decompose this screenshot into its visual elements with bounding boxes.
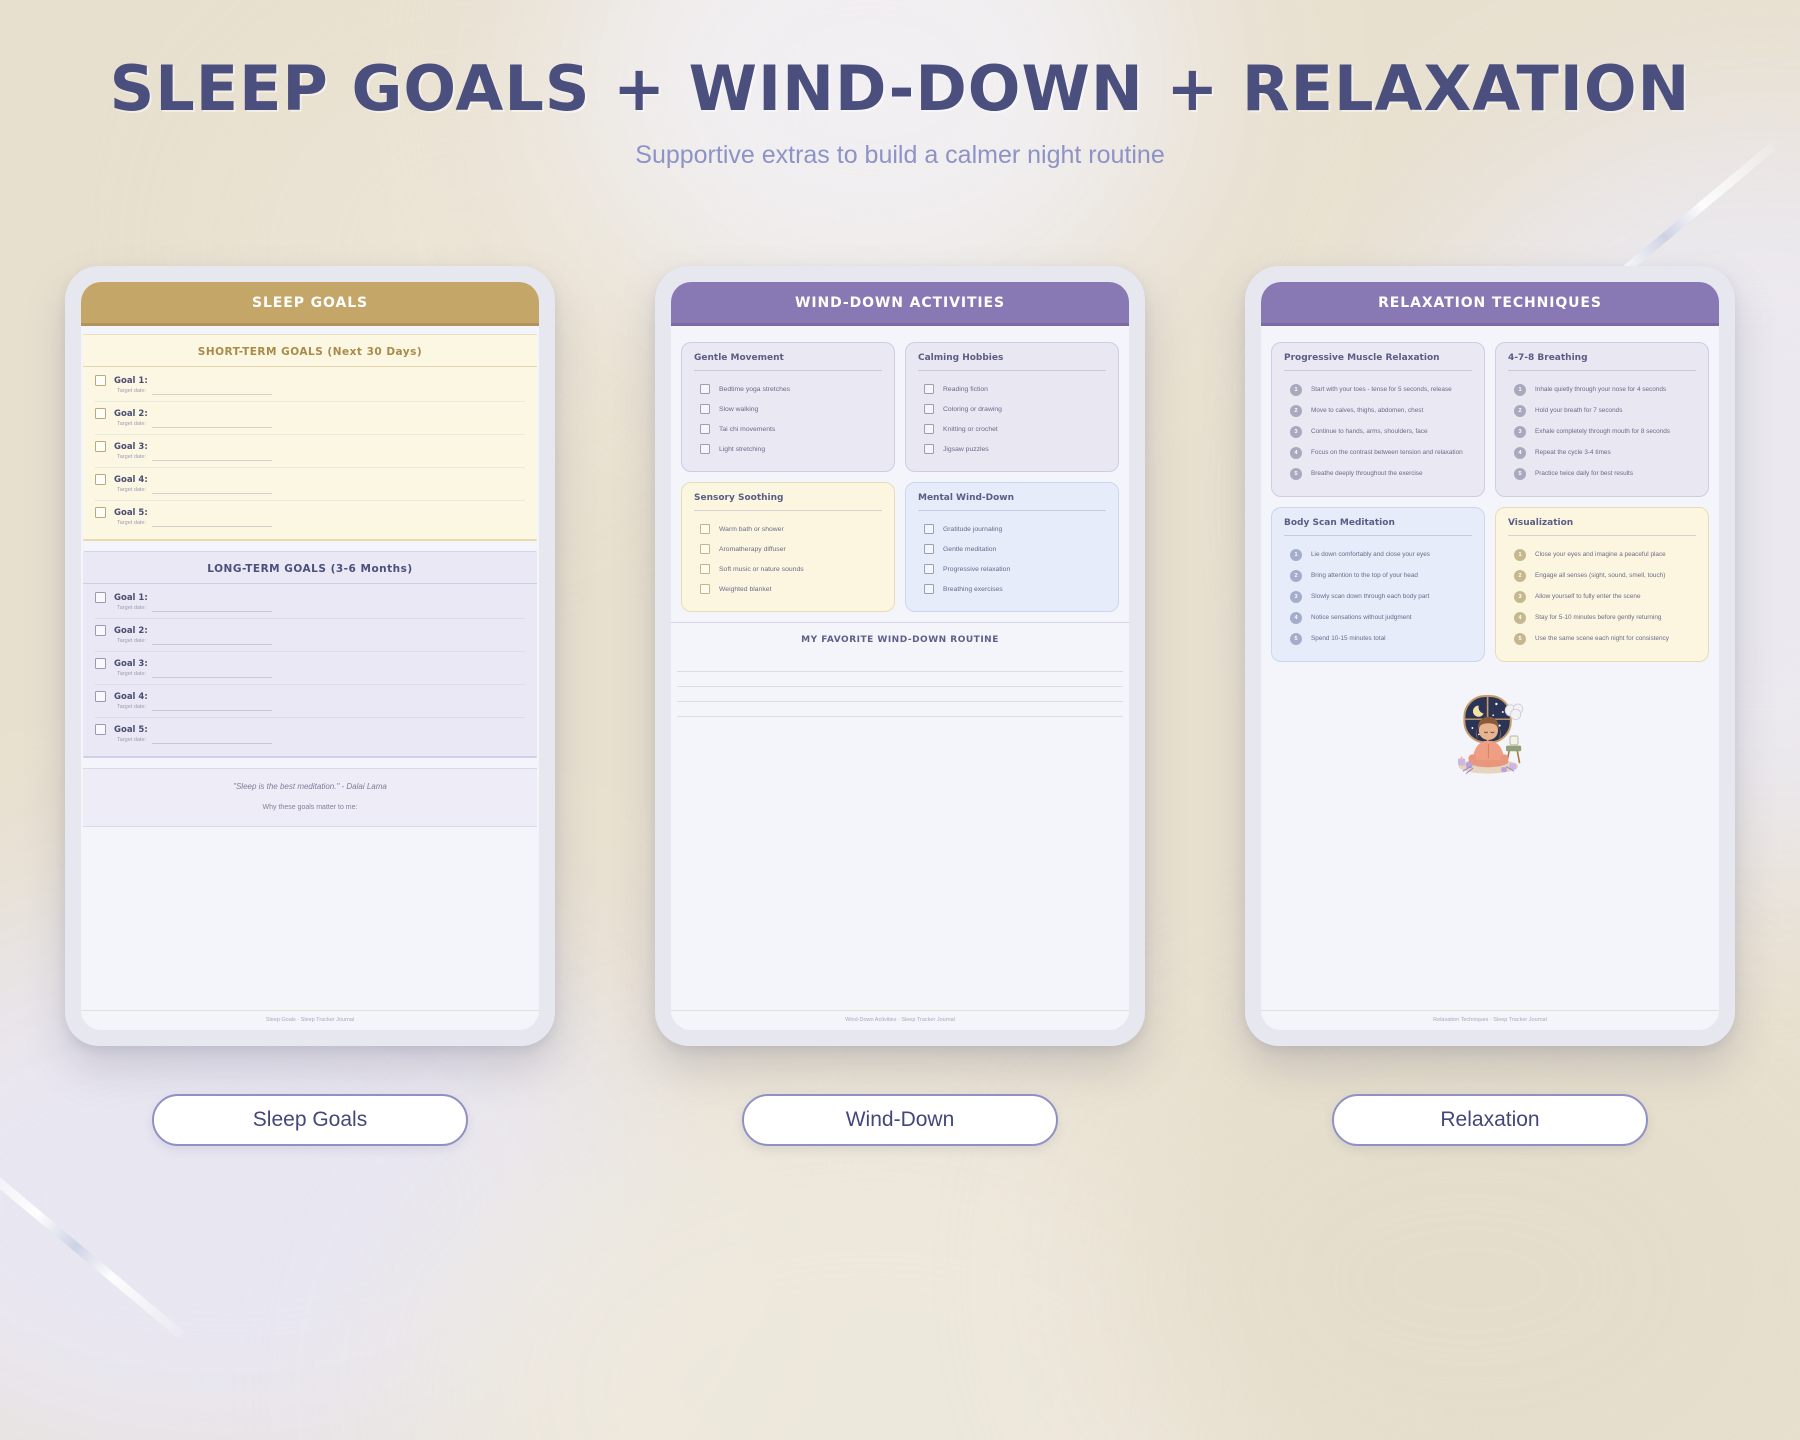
goal-checkbox[interactable] — [95, 592, 106, 603]
step-text: Use the same scene each night for consis… — [1535, 635, 1669, 642]
goal-checkbox[interactable] — [95, 658, 106, 669]
step-text: Spend 10-15 minutes total — [1311, 635, 1386, 642]
activity-card-title: Mental Wind-Down — [918, 493, 1106, 511]
activity-label: Bedtime yoga stretches — [719, 386, 790, 393]
activity-label: Slow walking — [719, 406, 758, 413]
goal-label: Goal 5: — [114, 725, 148, 735]
goal-label: Goal 4: — [114, 475, 148, 485]
activity-item[interactable]: Aromatherapy diffuser — [694, 539, 882, 559]
target-date-field[interactable] — [152, 710, 272, 711]
step-number-badge: 3 — [1290, 591, 1302, 603]
goal-label: Goal 2: — [114, 409, 148, 419]
goal-checkbox[interactable] — [95, 408, 106, 419]
technique-card-visualization: Visualization 1Close your eyes and imagi… — [1495, 507, 1709, 662]
activity-item[interactable]: Coloring or drawing — [918, 399, 1106, 419]
target-date-label: Target date: — [117, 605, 146, 612]
technique-card-title: Visualization — [1508, 518, 1696, 536]
step-text: Notice sensations without judgment — [1311, 614, 1412, 621]
goal-section-short-term: SHORT-TERM GOALS (Next 30 Days) Goal 1: … — [83, 334, 537, 541]
goal-write-line[interactable] — [156, 413, 525, 414]
technique-step: 5Spend 10-15 minutes total — [1284, 628, 1472, 649]
technique-step: 5Breathe deeply throughout the exercise — [1284, 463, 1472, 484]
activity-card-title: Sensory Soothing — [694, 493, 882, 511]
step-text: Bring attention to the top of your head — [1311, 572, 1418, 579]
target-date-field[interactable] — [152, 677, 272, 678]
goal-section-title: LONG-TERM GOALS (3-6 Months) — [83, 552, 537, 584]
technique-card-body-scan-meditation: Body Scan Meditation 1Lie down comfortab… — [1271, 507, 1485, 662]
step-number-badge: 5 — [1290, 468, 1302, 480]
goal-divider — [95, 401, 525, 402]
activity-item[interactable]: Gratitude journaling — [918, 519, 1106, 539]
activity-checkbox[interactable] — [700, 404, 710, 414]
activity-item[interactable]: Breathing exercises — [918, 579, 1106, 599]
step-text: Exhale completely through mouth for 8 se… — [1535, 428, 1670, 435]
step-number-badge: 4 — [1514, 612, 1526, 624]
technique-card-title: 4-7-8 Breathing — [1508, 353, 1696, 371]
goal-checkbox[interactable] — [95, 441, 106, 452]
activity-item[interactable]: Progressive relaxation — [918, 559, 1106, 579]
goal-checkbox[interactable] — [95, 625, 106, 636]
target-date-field[interactable] — [152, 493, 272, 494]
goal-label: Goal 5: — [114, 508, 148, 518]
step-number-badge: 3 — [1514, 591, 1526, 603]
step-text: Engage all senses (sight, sound, smell, … — [1535, 572, 1665, 579]
activity-item[interactable]: Slow walking — [694, 399, 882, 419]
technique-step: 3Continue to hands, arms, shoulders, fac… — [1284, 421, 1472, 442]
technique-step: 3Exhale completely through mouth for 8 s… — [1508, 421, 1696, 442]
activity-checkbox[interactable] — [924, 584, 934, 594]
step-text: Slowly scan down through each body part — [1311, 593, 1429, 600]
technique-step: 2Hold your breath for 7 seconds — [1508, 400, 1696, 421]
technique-step: 1Lie down comfortably and close your eye… — [1284, 544, 1472, 565]
step-number-badge: 4 — [1514, 447, 1526, 459]
quote-reflection-prompt[interactable]: Why these goals matter to me: — [83, 804, 537, 811]
activity-item[interactable]: Gentle meditation — [918, 539, 1106, 559]
goal-checkbox[interactable] — [95, 724, 106, 735]
activity-checkbox[interactable] — [924, 444, 934, 454]
target-date-label: Target date: — [117, 454, 146, 461]
target-date-label: Target date: — [117, 487, 146, 494]
target-date-field[interactable] — [152, 394, 272, 395]
goal-label: Goal 2: — [114, 626, 148, 636]
activity-label: Tai chi movements — [719, 426, 775, 433]
activity-card-grid: Gentle Movement Bedtime yoga stretches S… — [671, 334, 1129, 612]
activity-card-gentle-movement: Gentle Movement Bedtime yoga stretches S… — [681, 342, 895, 472]
step-number-badge: 2 — [1290, 570, 1302, 582]
target-date-label: Target date: — [117, 671, 146, 678]
step-text: Move to calves, thighs, abdomen, chest — [1311, 407, 1423, 414]
technique-step: 4Focus on the contrast between tension a… — [1284, 442, 1472, 463]
goal-label: Goal 3: — [114, 659, 148, 669]
goal-write-line[interactable] — [156, 446, 525, 447]
technique-step: 3Allow yourself to fully enter the scene — [1508, 586, 1696, 607]
activity-checkbox[interactable] — [924, 544, 934, 554]
goal-row[interactable]: Goal 5: Target date: — [83, 721, 537, 748]
goal-row[interactable]: Goal 2: Target date: — [83, 622, 537, 652]
tablet-preview-sleep-goals: SLEEP GOALS SHORT-TERM GOALS (Next 30 Da… — [65, 266, 555, 1146]
activity-label: Reading fiction — [943, 386, 988, 393]
technique-step: 3Slowly scan down through each body part — [1284, 586, 1472, 607]
routine-write-line[interactable] — [677, 687, 1123, 702]
step-number-badge: 5 — [1290, 633, 1302, 645]
step-text: Lie down comfortably and close your eyes — [1311, 551, 1430, 558]
step-text: Repeat the cycle 3-4 times — [1535, 449, 1611, 456]
goal-write-line[interactable] — [156, 479, 525, 480]
activity-item[interactable]: Bedtime yoga stretches — [694, 379, 882, 399]
goal-section-title: SHORT-TERM GOALS (Next 30 Days) — [83, 335, 537, 367]
step-text: Hold your breath for 7 seconds — [1535, 407, 1622, 414]
goal-divider — [95, 500, 525, 501]
goal-row[interactable]: Goal 3: Target date: — [83, 655, 537, 685]
step-text: Focus on the contrast between tension an… — [1311, 449, 1463, 456]
tab-button-relaxation[interactable]: Relaxation — [1332, 1094, 1648, 1146]
step-text: Breathe deeply throughout the exercise — [1311, 470, 1423, 477]
step-number-badge: 3 — [1514, 426, 1526, 438]
goal-rows: Goal 1: Target date: Goal 2: Target date… — [83, 584, 537, 756]
tablet-preview-row: SLEEP GOALS SHORT-TERM GOALS (Next 30 Da… — [0, 266, 1800, 1146]
activity-checkbox[interactable] — [700, 524, 710, 534]
tab-button-wind-down[interactable]: Wind-Down — [742, 1094, 1058, 1146]
step-number-badge: 2 — [1290, 405, 1302, 417]
step-number-badge: 1 — [1290, 549, 1302, 561]
activity-card-title: Gentle Movement — [694, 353, 882, 371]
goal-checkbox[interactable] — [95, 375, 106, 386]
sheet-footer: Relaxation Techniques · Sleep Tracker Jo… — [1261, 1010, 1719, 1030]
goal-row[interactable]: Goal 1: Target date: — [83, 589, 537, 619]
sheet-header-title: WIND-DOWN ACTIVITIES — [671, 282, 1129, 326]
target-date-field[interactable] — [152, 427, 272, 428]
activity-checkbox[interactable] — [924, 524, 934, 534]
tablet-preview-wind-down: WIND-DOWN ACTIVITIES Gentle Movement Bed… — [655, 266, 1145, 1146]
technique-step: 1Start with your toes - tense for 5 seco… — [1284, 379, 1472, 400]
technique-card-progressive-muscle-relaxation: Progressive Muscle Relaxation 1Start wit… — [1271, 342, 1485, 497]
step-number-badge: 3 — [1290, 426, 1302, 438]
activity-label: Coloring or drawing — [943, 406, 1002, 413]
step-number-badge: 2 — [1514, 405, 1526, 417]
activity-item[interactable]: Reading fiction — [918, 379, 1106, 399]
goal-write-line[interactable] — [156, 512, 525, 513]
target-date-label: Target date: — [117, 520, 146, 527]
routine-write-line[interactable] — [677, 657, 1123, 672]
step-text: Close your eyes and imagine a peaceful p… — [1535, 551, 1666, 558]
tablet-screen: SLEEP GOALS SHORT-TERM GOALS (Next 30 Da… — [81, 282, 539, 1030]
activity-checkbox[interactable] — [924, 424, 934, 434]
target-date-field[interactable] — [152, 743, 272, 744]
activity-checkbox[interactable] — [700, 384, 710, 394]
activity-label: Breathing exercises — [943, 586, 1003, 593]
tab-button-sleep-goals[interactable]: Sleep Goals — [152, 1094, 468, 1146]
step-number-badge: 4 — [1290, 447, 1302, 459]
target-date-label: Target date: — [117, 704, 146, 711]
activity-item[interactable]: Weighted blanket — [694, 579, 882, 599]
goal-label: Goal 1: — [114, 376, 148, 386]
activity-checkbox[interactable] — [700, 584, 710, 594]
step-text: Allow yourself to fully enter the scene — [1535, 593, 1641, 600]
activity-item[interactable]: Tai chi movements — [694, 419, 882, 439]
target-date-field[interactable] — [152, 460, 272, 461]
target-date-field[interactable] — [152, 526, 272, 527]
target-date-label: Target date: — [117, 737, 146, 744]
goal-row[interactable]: Goal 4: Target date: — [83, 688, 537, 718]
routine-write-line[interactable] — [677, 672, 1123, 687]
activity-label: Gentle meditation — [943, 546, 996, 553]
goal-row[interactable]: Goal 5: Target date: — [83, 504, 537, 531]
goal-section-long-term: LONG-TERM GOALS (3-6 Months) Goal 1: Tar… — [83, 551, 537, 758]
activity-label: Progressive relaxation — [943, 566, 1010, 573]
target-date-field[interactable] — [152, 611, 272, 612]
target-date-field[interactable] — [152, 644, 272, 645]
goal-label: Goal 1: — [114, 593, 148, 603]
activity-label: Light stretching — [719, 446, 765, 453]
activity-label: Aromatherapy diffuser — [719, 546, 786, 553]
goal-label: Goal 3: — [114, 442, 148, 452]
activity-item[interactable]: Jigsaw puzzles — [918, 439, 1106, 459]
activity-checkbox[interactable] — [700, 544, 710, 554]
target-date-label: Target date: — [117, 638, 146, 645]
activity-card-title: Calming Hobbies — [918, 353, 1106, 371]
technique-step: 4Notice sensations without judgment — [1284, 607, 1472, 628]
activity-checkbox[interactable] — [700, 564, 710, 574]
woman-meditating-night-window-illustration — [1442, 688, 1538, 784]
activity-label: Knitting or crochet — [943, 426, 998, 433]
step-text: Practice twice daily for best results — [1535, 470, 1633, 477]
step-text: Start with your toes - tense for 5 secon… — [1311, 386, 1452, 393]
tablet-screen: RELAXATION TECHNIQUES Progressive Muscle… — [1261, 282, 1719, 1030]
sheet-body: SHORT-TERM GOALS (Next 30 Days) Goal 1: … — [81, 326, 539, 1030]
step-number-badge: 4 — [1290, 612, 1302, 624]
favorite-routine-block: MY FAVORITE WIND-DOWN ROUTINE — [671, 622, 1129, 717]
tablet-frame: WIND-DOWN ACTIVITIES Gentle Movement Bed… — [655, 266, 1145, 1046]
goal-divider — [95, 651, 525, 652]
goal-write-line[interactable] — [156, 380, 525, 381]
activity-checkbox[interactable] — [924, 384, 934, 394]
step-number-badge: 1 — [1514, 384, 1526, 396]
step-text: Continue to hands, arms, shoulders, face — [1311, 428, 1428, 435]
activity-item[interactable]: Light stretching — [694, 439, 882, 459]
technique-step: 2Engage all senses (sight, sound, smell,… — [1508, 565, 1696, 586]
step-number-badge: 5 — [1514, 468, 1526, 480]
technique-step: 4Stay for 5-10 minutes before gently ret… — [1508, 607, 1696, 628]
technique-step: 1Close your eyes and imagine a peaceful … — [1508, 544, 1696, 565]
sheet-header-title: RELAXATION TECHNIQUES — [1261, 282, 1719, 326]
technique-step: 5Use the same scene each night for consi… — [1508, 628, 1696, 649]
sheet-header-title: SLEEP GOALS — [81, 282, 539, 326]
routine-write-line[interactable] — [677, 702, 1123, 717]
sheet-footer: Wind-Down Activities · Sleep Tracker Jou… — [671, 1010, 1129, 1030]
step-text: Stay for 5-10 minutes before gently retu… — [1535, 614, 1661, 621]
goal-write-line[interactable] — [156, 696, 525, 697]
goal-divider — [95, 684, 525, 685]
technique-step: 2Move to calves, thighs, abdomen, chest — [1284, 400, 1472, 421]
motivational-quote-box: "Sleep is the best meditation." - Dalai … — [83, 768, 537, 827]
technique-card-title: Progressive Muscle Relaxation — [1284, 353, 1472, 371]
activity-card-sensory-soothing: Sensory Soothing Warm bath or shower Aro… — [681, 482, 895, 612]
goal-rows: Goal 1: Target date: Goal 2: Target date… — [83, 367, 537, 539]
step-text: Inhale quietly through your nose for 4 s… — [1535, 386, 1666, 393]
goal-checkbox[interactable] — [95, 474, 106, 485]
quote-text: "Sleep is the best meditation." - Dalai … — [83, 782, 537, 791]
favorite-routine-title: MY FAVORITE WIND-DOWN ROUTINE — [671, 635, 1129, 645]
technique-step: 2Bring attention to the top of your head — [1284, 565, 1472, 586]
page-subtitle: Supportive extras to build a calmer nigh… — [0, 141, 1800, 170]
tablet-screen: WIND-DOWN ACTIVITIES Gentle Movement Bed… — [671, 282, 1129, 1030]
activity-label: Soft music or nature sounds — [719, 566, 804, 573]
goal-write-line[interactable] — [156, 663, 525, 664]
step-number-badge: 1 — [1514, 549, 1526, 561]
activity-label: Weighted blanket — [719, 586, 771, 593]
goal-write-line[interactable] — [156, 729, 525, 730]
goal-checkbox[interactable] — [95, 507, 106, 518]
goal-divider — [95, 618, 525, 619]
sheet-body: Gentle Movement Bedtime yoga stretches S… — [671, 326, 1129, 1030]
goal-write-line[interactable] — [156, 597, 525, 598]
activity-checkbox[interactable] — [700, 424, 710, 434]
activity-label: Gratitude journaling — [943, 526, 1002, 533]
target-date-label: Target date: — [117, 421, 146, 428]
target-date-label: Target date: — [117, 388, 146, 395]
goal-row[interactable]: Goal 2: Target date: — [83, 405, 537, 435]
step-number-badge: 1 — [1290, 384, 1302, 396]
meditation-illustration-wrap — [1261, 688, 1719, 784]
technique-card-4-7-8-breathing: 4-7-8 Breathing 1Inhale quietly through … — [1495, 342, 1709, 497]
step-number-badge: 5 — [1514, 633, 1526, 645]
goal-checkbox[interactable] — [95, 691, 106, 702]
goal-write-line[interactable] — [156, 630, 525, 631]
activity-checkbox[interactable] — [924, 564, 934, 574]
activity-item[interactable]: Warm bath or shower — [694, 519, 882, 539]
technique-step: 5Practice twice daily for best results — [1508, 463, 1696, 484]
tablet-frame: RELAXATION TECHNIQUES Progressive Muscle… — [1245, 266, 1735, 1046]
activity-item[interactable]: Knitting or crochet — [918, 419, 1106, 439]
activity-checkbox[interactable] — [700, 444, 710, 454]
technique-step: 1Inhale quietly through your nose for 4 … — [1508, 379, 1696, 400]
page-header: SLEEP GOALS + WIND-DOWN + RELAXATION Sup… — [0, 0, 1800, 170]
goal-row[interactable]: Goal 3: Target date: — [83, 438, 537, 468]
activity-label: Jigsaw puzzles — [943, 446, 989, 453]
activity-checkbox[interactable] — [924, 404, 934, 414]
goal-row[interactable]: Goal 4: Target date: — [83, 471, 537, 501]
goal-divider — [95, 467, 525, 468]
activity-card-mental-wind-down: Mental Wind-Down Gratitude journaling Ge… — [905, 482, 1119, 612]
goal-row[interactable]: Goal 1: Target date: — [83, 372, 537, 402]
goal-divider — [95, 717, 525, 718]
favorite-routine-lines — [671, 657, 1129, 717]
tablet-frame: SLEEP GOALS SHORT-TERM GOALS (Next 30 Da… — [65, 266, 555, 1046]
tablet-preview-relaxation: RELAXATION TECHNIQUES Progressive Muscle… — [1245, 266, 1735, 1146]
sheet-body: Progressive Muscle Relaxation 1Start wit… — [1261, 326, 1719, 1030]
technique-step: 4Repeat the cycle 3-4 times — [1508, 442, 1696, 463]
activity-item[interactable]: Soft music or nature sounds — [694, 559, 882, 579]
step-number-badge: 2 — [1514, 570, 1526, 582]
page-title: SLEEP GOALS + WIND-DOWN + RELAXATION — [0, 52, 1800, 125]
technique-card-grid: Progressive Muscle Relaxation 1Start wit… — [1261, 334, 1719, 662]
activity-card-calming-hobbies: Calming Hobbies Reading fiction Coloring… — [905, 342, 1119, 472]
goal-label: Goal 4: — [114, 692, 148, 702]
activity-label: Warm bath or shower — [719, 526, 784, 533]
goal-divider — [95, 434, 525, 435]
sheet-footer: Sleep Goals · Sleep Tracker Journal — [81, 1010, 539, 1030]
technique-card-title: Body Scan Meditation — [1284, 518, 1472, 536]
